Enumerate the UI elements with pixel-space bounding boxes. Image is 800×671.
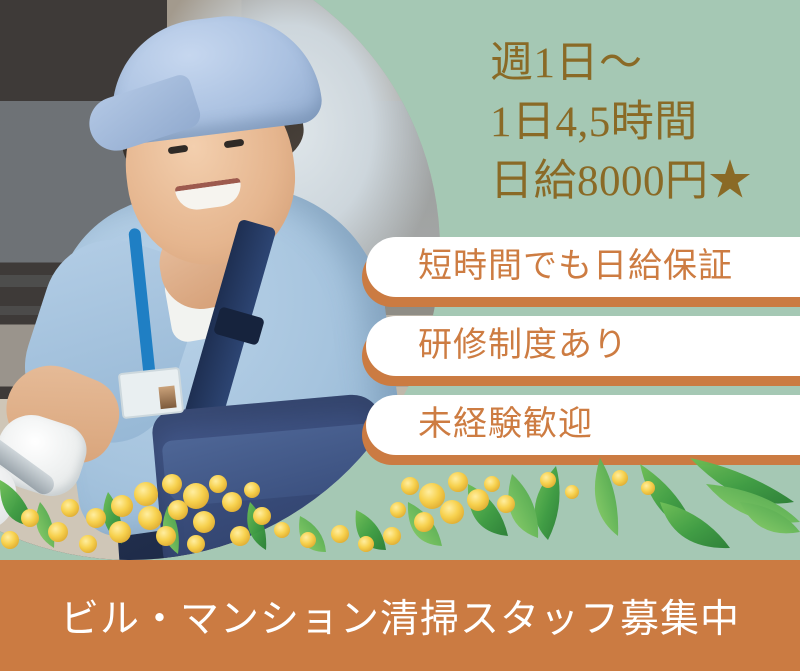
benefit-pill-2: 研修制度あり bbox=[366, 316, 800, 376]
benefit-pill-3-label: 未経験歓迎 bbox=[418, 395, 593, 455]
job-advert-poster: 週1日〜 1日4,5時間 日給8000円★ 短時間でも日給保証 研修制度あり 未… bbox=[0, 0, 800, 671]
bottom-banner-text: ビル・マンション清掃スタッフ募集中 bbox=[60, 588, 740, 644]
benefit-pill-1-label: 短時間でも日給保証 bbox=[418, 237, 733, 297]
headline-line-2: 1日4,5時間 bbox=[490, 93, 790, 152]
worker-id-badge bbox=[118, 367, 184, 419]
bottom-banner: ビル・マンション清掃スタッフ募集中 bbox=[0, 560, 800, 671]
headline-line-1: 週1日〜 bbox=[490, 34, 790, 93]
headline: 週1日〜 1日4,5時間 日給8000円★ bbox=[490, 34, 790, 211]
benefit-pill-1: 短時間でも日給保証 bbox=[366, 237, 800, 297]
benefit-pill-3: 未経験歓迎 bbox=[366, 395, 800, 455]
benefit-pill-2-label: 研修制度あり bbox=[418, 316, 628, 376]
headline-line-3: 日給8000円★ bbox=[490, 152, 790, 211]
